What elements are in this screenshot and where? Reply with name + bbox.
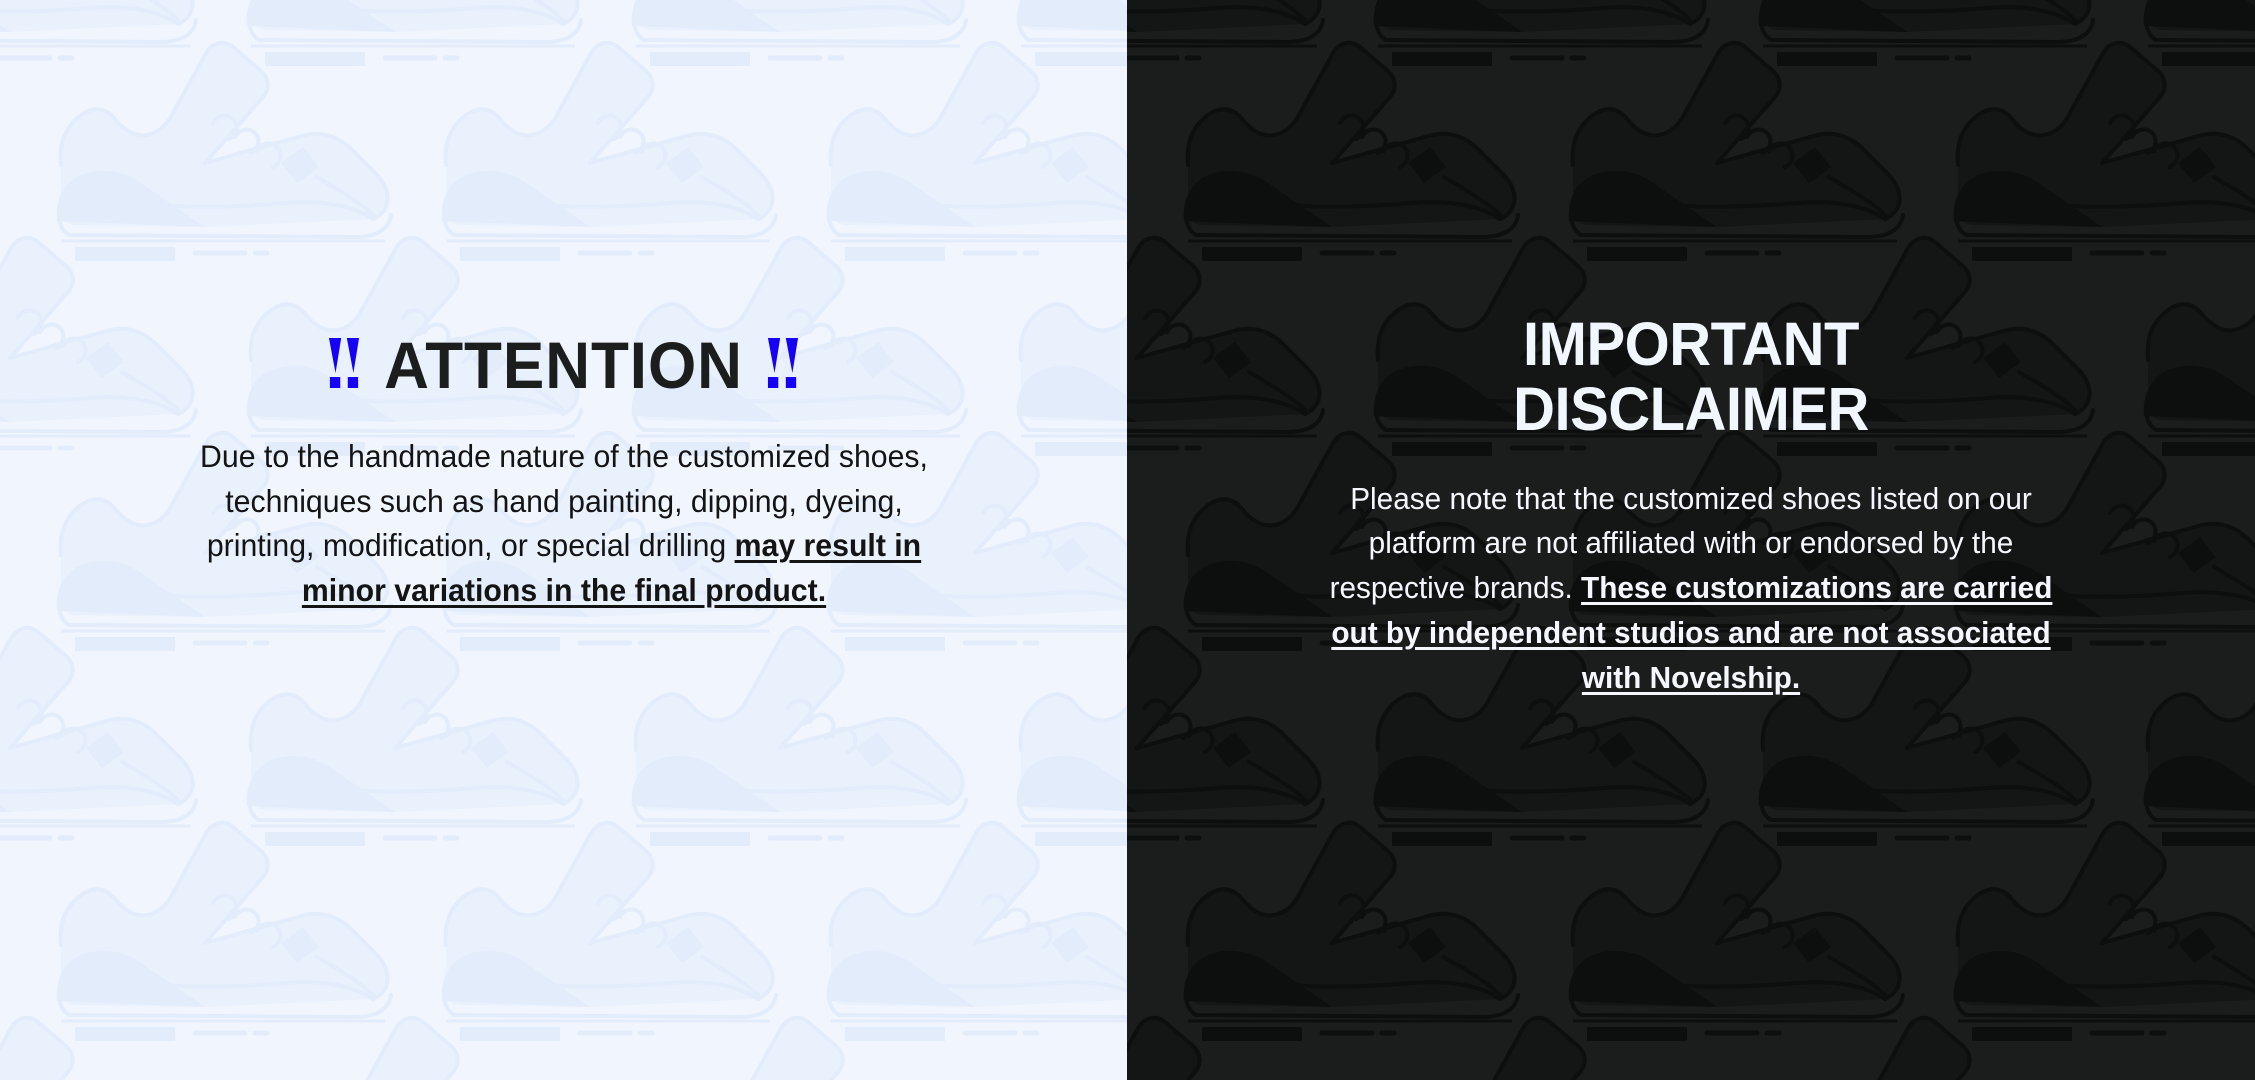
disclaimer-panel: IMPORTANT DISCLAIMER Please note that th…	[1127, 0, 2255, 1080]
disclaimer-heading-line-1: IMPORTANT	[1155, 312, 2227, 377]
attention-heading: ATTENTION	[34, 332, 1093, 398]
disclaimer-heading: IMPORTANT DISCLAIMER	[1155, 312, 2227, 443]
promo-banner: ATTENTION Due to the handmade nature of …	[0, 0, 2255, 1080]
double-exclamation-mark-icon-right	[767, 338, 798, 388]
disclaimer-heading-line-2: DISCLAIMER	[1155, 377, 2227, 442]
attention-content: ATTENTION Due to the handmade nature of …	[0, 332, 1127, 613]
attention-heading-label: ATTENTION	[384, 332, 743, 398]
double-exclamation-mark-icon-left	[329, 338, 360, 388]
attention-body-text: Due to the handmade nature of the custom…	[184, 434, 942, 613]
attention-panel: ATTENTION Due to the handmade nature of …	[0, 0, 1127, 1080]
disclaimer-content: IMPORTANT DISCLAIMER Please note that th…	[1127, 312, 2255, 701]
disclaimer-body-text: Please note that the customized shoes li…	[1307, 477, 2075, 702]
